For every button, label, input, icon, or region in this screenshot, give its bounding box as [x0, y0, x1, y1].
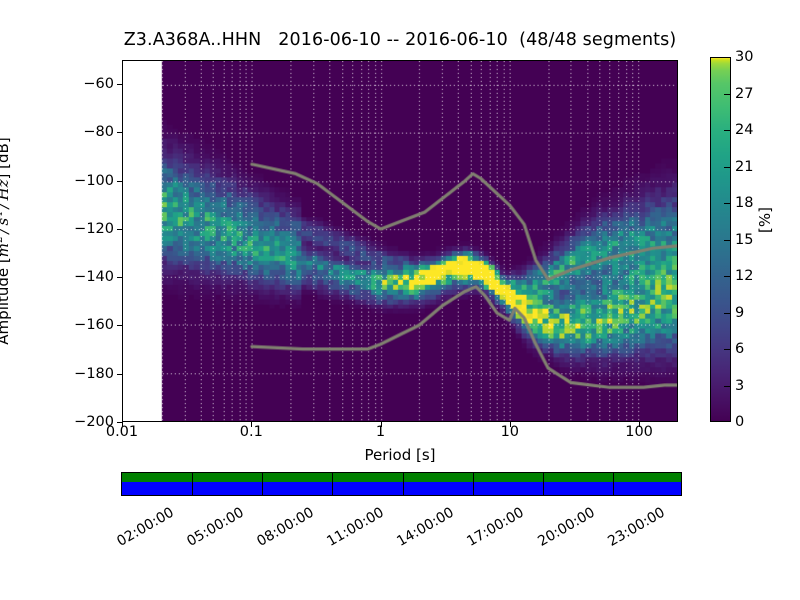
colorbar-tick-label: 9: [735, 305, 744, 321]
colorbar-tick-mark: [724, 203, 730, 204]
colorbar-tick-label: 6: [735, 341, 744, 357]
timeline-tick-label: 23:00:00: [605, 505, 667, 550]
timeline-divider: [262, 473, 263, 495]
y-axis-tick-mark: [117, 277, 122, 278]
y-axis-tick-mark: [117, 374, 122, 375]
y-axis-tick-label: −160: [66, 317, 114, 333]
timeline-tick-label: 20:00:00: [535, 505, 597, 550]
y-axis-tick-label: −100: [66, 173, 114, 189]
colorbar-tick-mark: [724, 240, 730, 241]
timeline-divider: [192, 473, 193, 495]
colorbar-tick-label: 3: [735, 378, 744, 394]
timeline-tick-label: 02:00:00: [114, 505, 176, 550]
timeline-divider: [332, 473, 333, 495]
colorbar-tick-mark: [724, 276, 730, 277]
timeline-divider: [403, 473, 404, 495]
x-axis-tick-mark: [381, 422, 382, 427]
timeline-tick-label: 05:00:00: [184, 505, 246, 550]
page-title: Z3.A368A..HHN 2016-06-10 -- 2016-06-10 (…: [0, 30, 800, 50]
y-axis-tick-label: −80: [66, 124, 114, 140]
timeline-divider: [473, 473, 474, 495]
y-axis-tick-label: −60: [66, 76, 114, 92]
x-axis-tick-mark: [122, 422, 123, 427]
timeline-divider: [543, 473, 544, 495]
timeline-green-strip: [122, 473, 681, 482]
timeline-divider: [613, 473, 614, 495]
x-axis-tick-mark: [251, 422, 252, 427]
x-axis-tick-mark: [510, 422, 511, 427]
colorbar-tick-label: 12: [735, 268, 753, 284]
y-axis-label: Amplitude [m2 / s4 / Hz] [dB]: [0, 60, 16, 422]
colorbar-tick-label: 27: [735, 86, 753, 102]
colorbar-tick-label: 30: [735, 49, 753, 65]
timeline-tick-label: 08:00:00: [254, 505, 316, 550]
timeline-tick-label: 11:00:00: [324, 505, 386, 550]
colorbar-tick-label: 24: [735, 122, 753, 138]
y-axis-tick-label: −120: [66, 221, 114, 237]
colorbar-tick-mark: [724, 130, 730, 131]
colorbar-tick-label: 21: [735, 159, 753, 175]
y-axis-tick-mark: [117, 325, 122, 326]
colorbar-tick-mark: [724, 57, 730, 58]
x-axis-tick-mark: [639, 422, 640, 427]
timeline-blue-strip: [122, 482, 681, 495]
timeline-tick-label: 14:00:00: [395, 505, 457, 550]
colorbar-tick-mark: [724, 94, 730, 95]
ppsd-histogram-heatmap: [123, 61, 677, 421]
ppsd-figure: Z3.A368A..HHN 2016-06-10 -- 2016-06-10 (…: [0, 0, 800, 600]
y-axis-tick-label: −140: [66, 269, 114, 285]
timeline-coverage-bar[interactable]: [121, 472, 682, 496]
colorbar-tick-label: 15: [735, 232, 753, 248]
x-axis-label: Period [s]: [122, 446, 678, 464]
y-axis-tick-mark: [117, 132, 122, 133]
timeline-tick-label: 17:00:00: [465, 505, 527, 550]
colorbar-tick-mark: [724, 386, 730, 387]
y-axis-tick-mark: [117, 229, 122, 230]
colorbar-tick-mark: [724, 167, 730, 168]
colorbar-tick-mark: [724, 349, 730, 350]
ppsd-axes[interactable]: [122, 60, 678, 422]
colorbar-tick-mark: [724, 313, 730, 314]
colorbar-tick-label: 0: [735, 414, 744, 430]
y-axis-tick-label: −180: [66, 366, 114, 382]
colorbar-tick-label: 18: [735, 195, 753, 211]
y-axis-tick-mark: [117, 84, 122, 85]
y-axis-tick-mark: [117, 181, 122, 182]
colorbar-label: [%]: [756, 200, 776, 240]
